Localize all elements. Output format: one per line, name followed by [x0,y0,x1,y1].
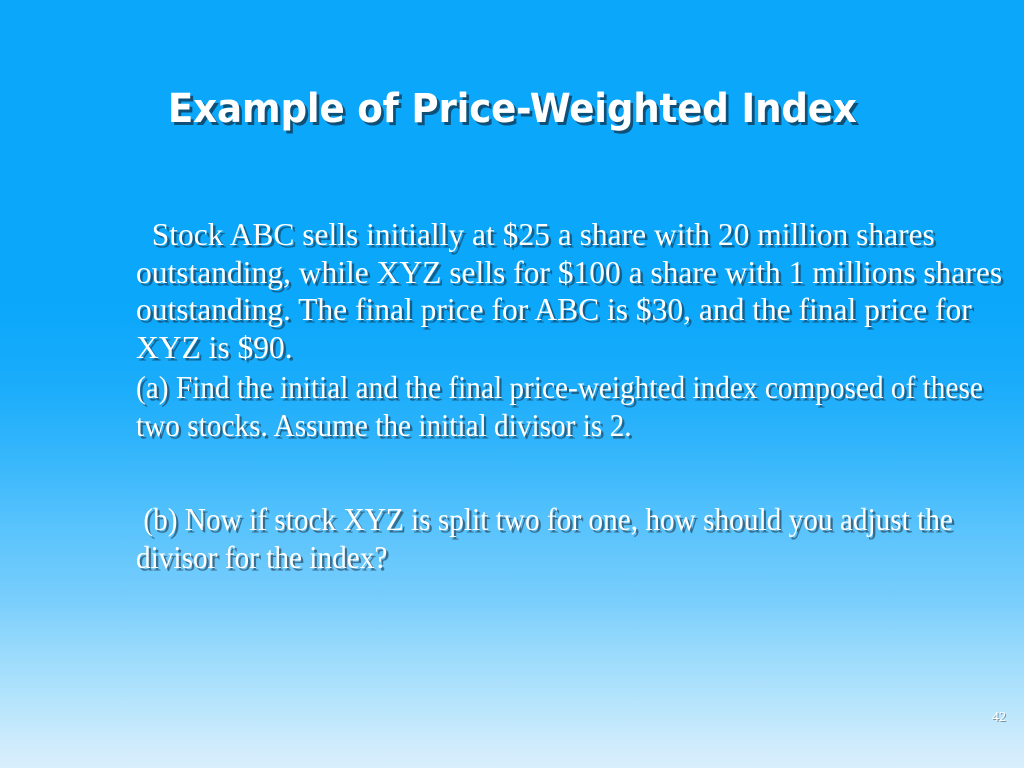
page-number: 42 [992,710,1006,726]
paragraph-intro-text: Stock ABC sells initially at $25 a share… [136,217,1002,365]
slide-body: Stock ABC sells initially at $25 a share… [136,216,1024,576]
paragraph-part-a: (a) Find the initial and the final price… [136,369,1024,444]
leading-indent-b [136,502,143,537]
page-title: Example of Price-Weighted Index [168,86,857,132]
title-container: Example of Price-Weighted Index [0,86,1024,132]
paragraph-part-b-text: (b) Now if stock XYZ is split two for on… [136,502,953,575]
leading-indent [136,217,152,252]
paragraph-intro: Stock ABC sells initially at $25 a share… [136,216,1024,366]
paragraph-spacer [136,444,1024,501]
paragraph-part-b: (b) Now if stock XYZ is split two for on… [136,501,1024,576]
slide-canvas: Example of Price-Weighted Index Stock AB… [0,0,1024,768]
